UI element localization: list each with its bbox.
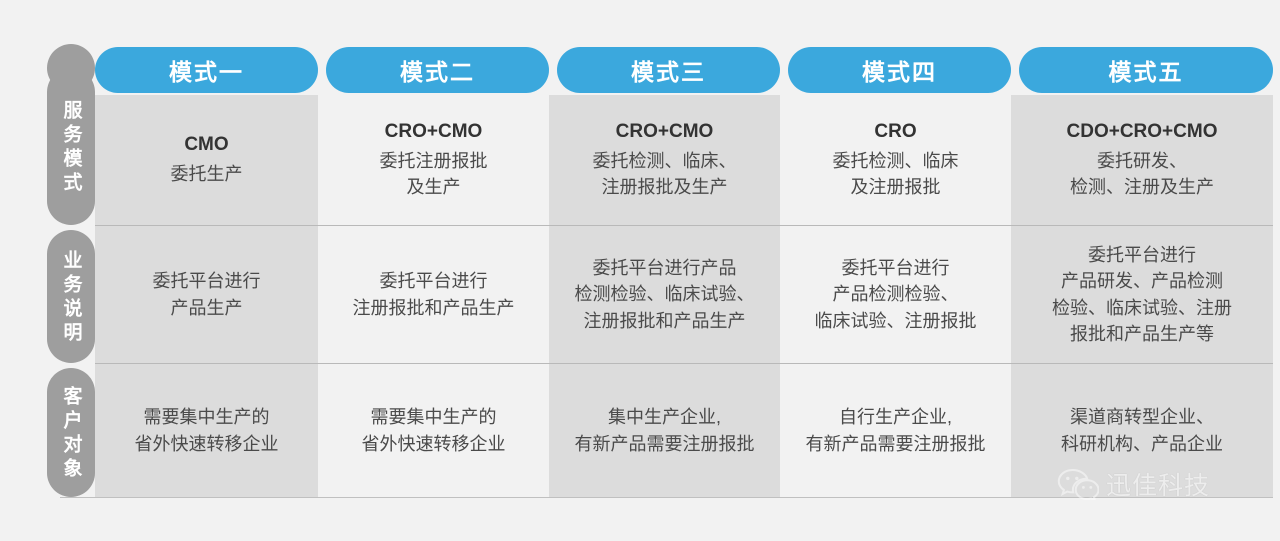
table-body: CMO 委托生产 CRO+CMO 委托注册报批 及生产 CRO+CMO 委托检测… [95,95,1273,497]
cell-text: 委托平台进行 产品生产 [153,268,261,320]
column-header-label: 模式二 [400,53,475,87]
row-label-text: 业务说明 [62,248,81,346]
cell-text: 委托平台进行 产品研发、产品检测 检验、临床试验、注册 报批和产品生产等 [1052,242,1232,346]
row-label-service-model[interactable]: 服务模式 [47,68,95,225]
table-cell[interactable]: 集中生产企业, 有新产品需要注册报批 [549,364,780,497]
table-row: CMO 委托生产 CRO+CMO 委托注册报批 及生产 CRO+CMO 委托检测… [95,95,1273,225]
cell-text: 需要集中生产的 省外快速转移企业 [135,404,279,456]
cell-text: 委托检测、临床 及注册报批 [833,148,959,200]
row-label-business-description[interactable]: 业务说明 [47,230,95,363]
table-cell[interactable]: 委托平台进行 注册报批和产品生产 [318,226,549,363]
cell-title: CRO [874,120,916,144]
cell-text: 委托检测、临床、 注册报批及生产 [593,148,737,200]
table-cell[interactable]: 委托平台进行 产品研发、产品检测 检验、临床试验、注册 报批和产品生产等 [1011,226,1273,363]
table-cell[interactable]: CRO+CMO 委托注册报批 及生产 [318,95,549,225]
table-cell[interactable]: 委托平台进行 产品检测检验、 临床试验、注册报批 [780,226,1011,363]
column-header-label: 模式五 [1109,53,1184,87]
cell-text: 集中生产企业, 有新产品需要注册报批 [575,404,755,456]
column-header-mode-1[interactable]: 模式一 [95,47,318,93]
table-row: 委托平台进行 产品生产 委托平台进行 注册报批和产品生产 委托平台进行产品 检测… [95,226,1273,363]
table-cell[interactable]: CMO 委托生产 [95,95,318,225]
cell-text: 委托平台进行 产品检测检验、 临床试验、注册报批 [815,255,977,333]
service-model-comparison-table: 模式一 模式二 模式三 模式四 模式五 服务模式 业务说明 客户对象 CMO 委… [0,0,1280,541]
cell-title: CDO+CRO+CMO [1067,120,1218,144]
cell-title: CMO [184,133,228,157]
column-header-label: 模式四 [862,53,937,87]
watermark-text: 迅佳科技 [1106,466,1210,502]
column-header-label: 模式三 [631,53,706,87]
table-cell[interactable]: 委托平台进行产品 检测检验、临床试验、 注册报批和产品生产 [549,226,780,363]
cell-text: 委托生产 [171,161,243,187]
table-cell[interactable]: 需要集中生产的 省外快速转移企业 [95,364,318,497]
table-cell[interactable]: 自行生产企业, 有新产品需要注册报批 [780,364,1011,497]
column-header-mode-3[interactable]: 模式三 [557,47,780,93]
table-cell[interactable]: CRO+CMO 委托检测、临床、 注册报批及生产 [549,95,780,225]
column-header-row: 模式一 模式二 模式三 模式四 模式五 [95,47,1273,93]
table-cell[interactable]: CRO 委托检测、临床 及注册报批 [780,95,1011,225]
cell-text: 委托注册报批 及生产 [380,148,488,200]
table-cell[interactable]: CDO+CRO+CMO 委托研发、 检测、注册及生产 [1011,95,1273,225]
cell-text: 渠道商转型企业、 科研机构、产品企业 [1061,404,1223,456]
cell-title: CRO+CMO [385,120,483,144]
cell-title: CRO+CMO [616,120,714,144]
column-header-mode-2[interactable]: 模式二 [326,47,549,93]
column-header-mode-4[interactable]: 模式四 [788,47,1011,93]
cell-text: 自行生产企业, 有新产品需要注册报批 [806,404,986,456]
table-cell[interactable]: 委托平台进行 产品生产 [95,226,318,363]
table-cell[interactable]: 需要集中生产的 省外快速转移企业 [318,364,549,497]
cell-text: 委托平台进行产品 检测检验、临床试验、 注册报批和产品生产 [575,255,755,333]
column-header-label: 模式一 [169,53,244,87]
cell-text: 需要集中生产的 省外快速转移企业 [362,404,506,456]
wechat-icon [1057,468,1099,500]
row-label-text: 客户对象 [62,384,81,482]
watermark: 迅佳科技 [1057,466,1210,502]
column-header-mode-5[interactable]: 模式五 [1019,47,1273,93]
cell-text: 委托研发、 检测、注册及生产 [1070,148,1214,200]
cell-text: 委托平台进行 注册报批和产品生产 [353,268,515,320]
row-label-text: 服务模式 [62,98,81,196]
row-label-customer-target[interactable]: 客户对象 [47,368,95,497]
